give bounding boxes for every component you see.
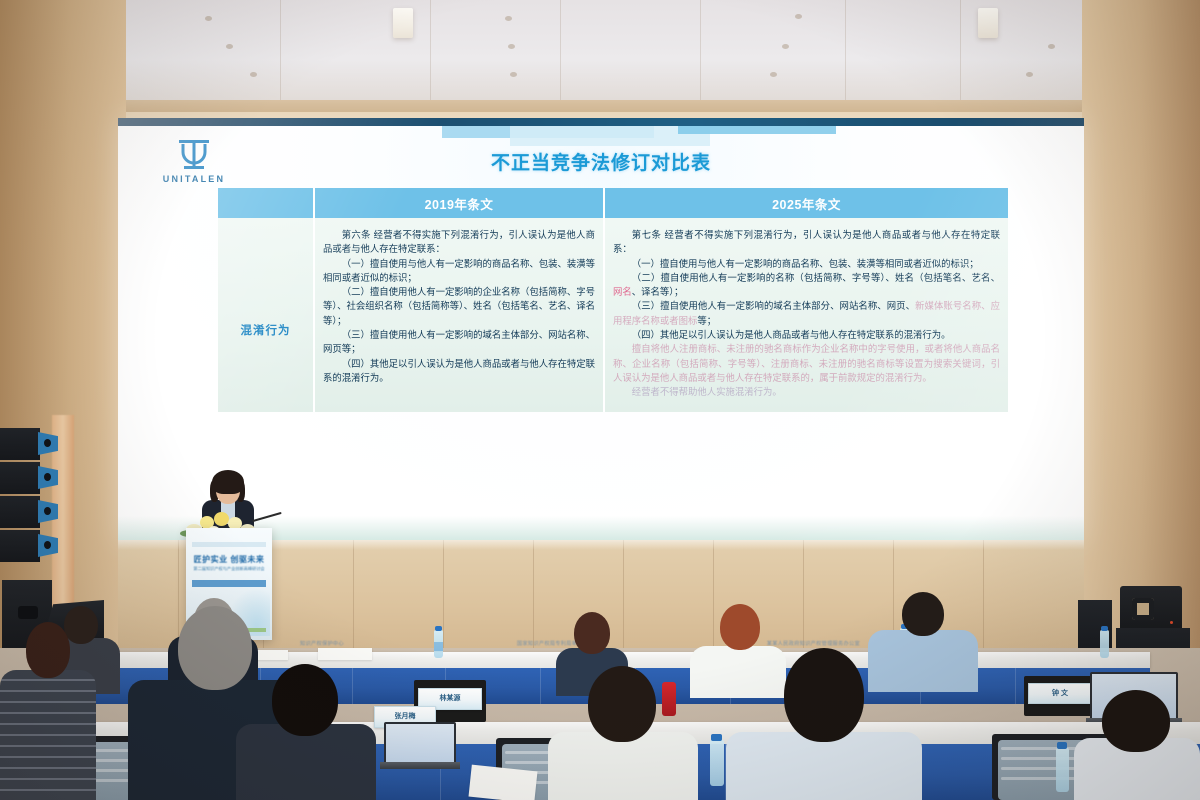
clause-2025-5: （三）擅自使用他人有一定影响的域名主体部分、网站名称、网页、新媒体账号名称、应用… [613, 299, 1000, 328]
clause-2025-7-text: 等； [697, 315, 716, 326]
ceiling [0, 0, 1200, 112]
clause-2025-10-faded: 经营者不得帮助他人实施混淆行为。 [613, 385, 1000, 399]
audience-person [1074, 690, 1200, 800]
ceiling-downlight-icon [782, 44, 789, 49]
ceiling-panel [118, 0, 1082, 100]
table-body: 混淆行为 第六条 经营者不得实施下列混淆行为，引人误认为是他人商品或者与他人存在… [218, 218, 1008, 412]
speaker-driver-icon [44, 439, 51, 447]
bottle-cap [1101, 626, 1108, 631]
clause-2025-2: （二）擅自使用他人有一定影响的名称（包括简称、字号等）、姓名（包括笔名、艺名、网… [613, 271, 1000, 300]
comparison-table: 2019年条文 2025年条文 混淆行为 第六条 经营者不得实施下列混淆行为，引… [218, 188, 1008, 412]
bottle-cap [711, 734, 722, 741]
screen-top-frame [118, 118, 1084, 126]
audience-person [548, 666, 698, 800]
cell-2019-clauses: 第六条 经营者不得实施下列混淆行为，引人误认为是他人商品或者与他人存在特定联系：… [314, 218, 604, 412]
row-label-confusion: 混淆行为 [218, 218, 314, 412]
document-paper [318, 648, 372, 660]
clause-2019-4: （四）其他足以引人误认为是他人商品或者与他人存在特定联系的混淆行为。 [323, 357, 595, 386]
clause-2019-0: 第六条 经营者不得实施下列混淆行为，引人误认为是他人商品或者与他人存在特定联系： [323, 228, 595, 257]
stage-light-lens [1132, 598, 1154, 620]
person-head [26, 622, 70, 678]
audience-person [236, 664, 376, 800]
ceiling-downlight-icon [505, 16, 512, 21]
presenter-hair [212, 470, 244, 494]
slide-title: 不正当竞争法修订对比表 [118, 148, 1084, 175]
clause-2019-3: （三）擅自使用他人有一定影响的域名主体部分、网站名称、网页等； [323, 328, 595, 357]
clause-2025-2-text: （二）擅自使用他人有一定影响的名称（包括简称、字号等）、姓名（包括笔名、艺名、 [632, 272, 1000, 283]
ceiling-downlight-icon [250, 72, 257, 77]
person-head [784, 648, 864, 742]
table-header: 2019年条文 2025年条文 [218, 188, 1008, 218]
table-row: 混淆行为 第六条 经营者不得实施下列混淆行为，引人误认为是他人商品或者与他人存在… [218, 218, 1008, 412]
person-head [902, 592, 944, 636]
clause-2025-5-text: （三）擅自使用他人有一定影响的域名主体部分、网站名称、网页、 [632, 300, 915, 311]
stage-light-power-led [1170, 621, 1173, 624]
person-head [588, 666, 656, 742]
clause-2025-0: 第七条 经营者不得实施下列混淆行为，引人误认为是他人商品或者与他人存在特定联系： [613, 228, 1000, 257]
person-body [0, 670, 96, 800]
bottle-cap [435, 626, 442, 631]
podium-accent-bar-date [192, 580, 266, 587]
audience-person [726, 648, 922, 800]
ceiling-downlight-icon [508, 44, 515, 49]
water-bottle [710, 740, 724, 786]
ceiling-downlight-icon [205, 16, 212, 21]
ceiling-downlight-icon [795, 14, 802, 19]
document-paper [469, 765, 538, 800]
ceiling-light-fixture [978, 8, 998, 38]
clause-list-2025: 第七条 经营者不得实施下列混淆行为，引人误认为是他人商品或者与他人存在特定联系：… [613, 228, 1000, 400]
col-header-blank [218, 188, 314, 218]
logo-wordmark: UNITALEN [146, 174, 242, 184]
ceiling-downlight-icon [510, 72, 517, 77]
person-body [726, 732, 922, 800]
clause-2019-1: （一）擅自使用与他人有一定影响的商品名称、包装、装潢等相同或者近似的标识； [323, 257, 595, 286]
speaker-driver-icon [44, 473, 51, 481]
nameplate-text: 林某源 [440, 695, 461, 703]
clause-2025-3-highlight: 网名 [613, 286, 632, 297]
person-head [720, 604, 760, 650]
water-bottle [1056, 748, 1069, 792]
speaker-driver-icon [44, 507, 51, 515]
ceiling-light-fixture [393, 8, 413, 38]
nameplate-text: 钟 文 [1052, 690, 1068, 698]
audience-person [0, 618, 96, 800]
clause-2025-9-faded: 擅自将他人注册商标、未注册的驰名商标作为企业名称中的字号使用，或者将他人商品名称… [613, 342, 1000, 385]
conference-room-scene: UNITALEN 不正当竞争法修订对比表 2019年条文 2025年条文 混淆行… [0, 0, 1200, 800]
podium-banner-title: 匠护实业 创驱未来 [186, 554, 272, 565]
podium-banner-subtitle: 第二届知识产权与产业创新高峰研讨会 [186, 566, 272, 572]
ceiling-downlight-icon [1048, 44, 1055, 49]
podium-accent-bar-top [192, 542, 266, 547]
nameplate-text: 张月梅 [395, 713, 416, 721]
bottle-label [434, 642, 443, 651]
speaker-driver-icon [44, 541, 51, 549]
person-body [548, 732, 698, 800]
stage-light [1120, 586, 1182, 634]
ceiling-downlight-icon [1026, 72, 1033, 77]
slide-canvas: UNITALEN 不正当竞争法修订对比表 2019年条文 2025年条文 混淆行… [118, 126, 1084, 542]
clause-2025-1: （一）擅自使用与他人有一定影响的商品名称、包装、装潢等相同或者近似的标识； [613, 257, 1000, 271]
person-head [272, 664, 338, 736]
slide-ribbon-decoration [678, 126, 836, 134]
projection-screen: UNITALEN 不正当竞争法修订对比表 2019年条文 2025年条文 混淆行… [118, 118, 1084, 542]
line-array-speaker [0, 428, 40, 564]
clause-2019-2: （二）擅自使用他人有一定影响的企业名称（包括简称、字号等）、社会组织名称（包括简… [323, 285, 595, 328]
bottle-cap [1057, 742, 1067, 749]
clause-list-2019: 第六条 经营者不得实施下列混淆行为，引人误认为是他人商品或者与他人存在特定联系：… [323, 228, 595, 385]
laptop-screen [384, 722, 456, 764]
laptop-base [380, 762, 460, 769]
col-header-2019: 2019年条文 [314, 188, 604, 218]
person-head [574, 612, 610, 654]
clause-2025-4-text: 、译名等）； [632, 286, 684, 297]
table-header-row: 2019年条文 2025年条文 [218, 188, 1008, 218]
ceiling-downlight-icon [226, 44, 233, 49]
water-bottle [1100, 630, 1109, 658]
clause-2025-8: （四）其他足以引人误认为是他人商品或者与他人存在特定联系的混淆行为。 [613, 328, 1000, 342]
ceiling-downlight-icon [770, 72, 777, 77]
person-head [1102, 690, 1170, 752]
cell-2025-clauses: 第七条 经营者不得实施下列混淆行为，引人误认为是他人商品或者与他人存在特定联系：… [604, 218, 1008, 412]
col-header-2025: 2025年条文 [604, 188, 1008, 218]
